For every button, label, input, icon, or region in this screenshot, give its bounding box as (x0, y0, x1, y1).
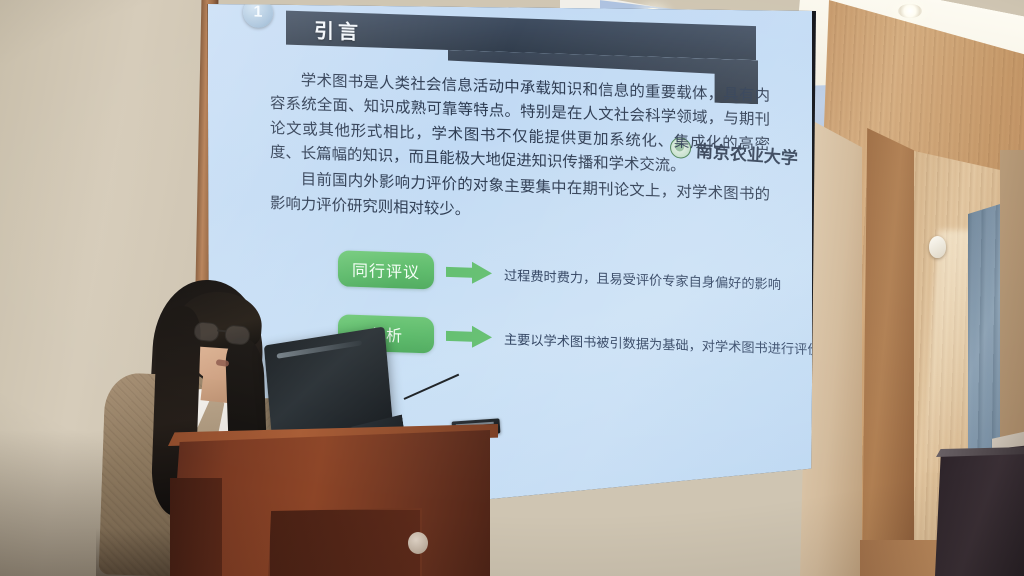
slide-flow-diagram: 同行评议 过程费时费力，且易受评价专家自身偏好的影响 分析 (338, 246, 808, 390)
flow-row: 分析 主要以学术图书被引数据为基础，对学术图书进行评价 (338, 310, 808, 370)
paragraph: 学术图书是人类社会信息活动中承载知识和信息的重要载体，具有内容系统全面、知识成熟… (270, 68, 770, 182)
flow-row: 同行评议 过程费时费力，且易受评价专家自身偏好的影响 (338, 246, 808, 306)
podium-front-panel (268, 508, 422, 576)
page-title: 引言 (314, 14, 362, 45)
monitor-screen-glare (277, 340, 362, 358)
right-wood-wall-dark-panel (862, 128, 914, 576)
flow-chip-peer-review: 同行评议 (338, 250, 434, 289)
flow-description: 主要以学术图书被引数据为基础，对学术图书进行评价 (504, 328, 812, 357)
right-arrow-icon (446, 261, 492, 285)
slide-body-text: 学术图书是人类社会信息活动中承载知识和信息的重要载体，具有内容系统全面、知识成熟… (270, 68, 770, 235)
wall-speaker-icon (929, 236, 946, 258)
glasses-left-lens (193, 321, 220, 343)
right-arrow-icon (446, 325, 492, 349)
podium-left-side (170, 478, 222, 576)
downlight-icon (898, 4, 922, 18)
presentation-photo-scene: 引言 1 南京农业大学 学术图书是人类社会信息活动中承载知识和信息的重要载体，具… (0, 0, 1024, 576)
equipment-cabinet (935, 445, 1024, 576)
glasses-right-lens (224, 324, 251, 346)
podium-knob (408, 532, 428, 554)
flow-description: 过程费时费力，且易受评价专家自身偏好的影响 (504, 264, 781, 292)
